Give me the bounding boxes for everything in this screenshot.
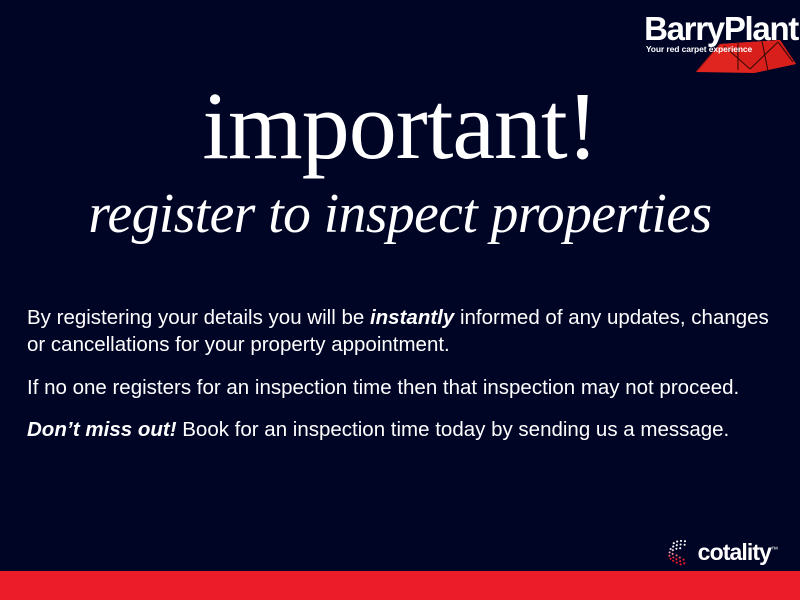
paragraph-3-tail: Book for an inspection time today by sen…	[177, 418, 730, 441]
cotality-name: cotality	[698, 539, 771, 565]
page-title: important!	[0, 76, 800, 176]
brand-tagline: Your red carpet experience	[644, 45, 754, 55]
page-subtitle: register to inspect properties	[4, 184, 796, 244]
trademark-symbol: ™	[771, 546, 778, 553]
paragraph-2: If no one registers for an inspection ti…	[27, 374, 775, 401]
cotality-swirl-icon	[663, 537, 693, 567]
paragraph-1-text: By registering your details you will be	[27, 306, 370, 329]
presentation-slide: BarryPlant Your red carpet experience im…	[0, 0, 800, 600]
paragraph-1: By registering your details you will be …	[27, 304, 775, 359]
paragraph-3-lead: Don’t miss out!	[27, 418, 177, 441]
body-copy: By registering your details you will be …	[27, 304, 775, 444]
cotality-wordmark: cotality™	[698, 541, 778, 564]
cotality-logo: cotality™	[663, 537, 778, 567]
paragraph-1-emphasis: instantly	[370, 306, 454, 329]
brand-wordmark: BarryPlant	[620, 12, 800, 45]
paragraph-3: Don’t miss out! Book for an inspection t…	[27, 416, 775, 443]
barry-plant-logo: BarryPlant Your red carpet experience	[620, 4, 800, 76]
paragraph-2-text: If no one registers for an inspection ti…	[27, 376, 739, 399]
footer-accent-bar	[0, 571, 800, 600]
